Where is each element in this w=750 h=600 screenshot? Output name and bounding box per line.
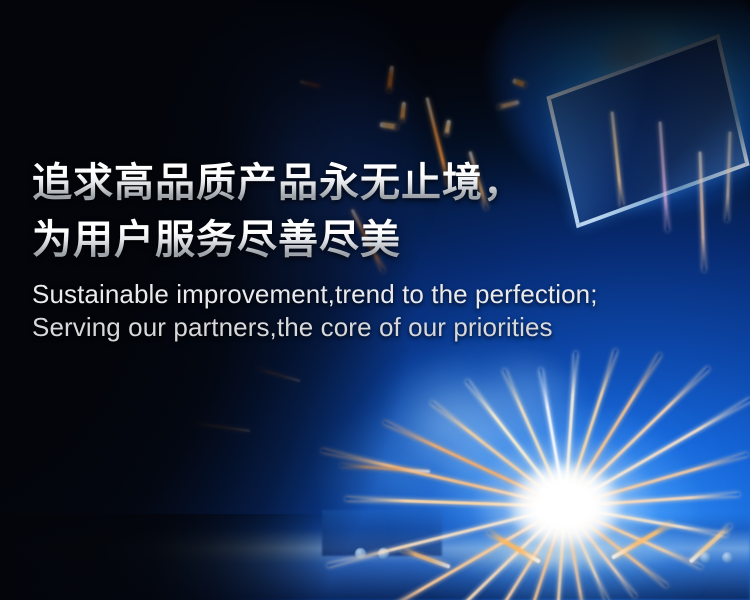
subheadline-line-2: Serving our partners,the core of our pri… <box>32 311 722 344</box>
subheadline-line-1: Sustainable improvement,trend to the per… <box>32 278 722 311</box>
welding-hero-banner: 追求高品质产品永无止境， 为用户服务尽善尽美 Sustainable impro… <box>0 0 750 600</box>
headline-line-1: 追求高品质产品永无止境， <box>32 155 722 212</box>
headline-line-2: 为用户服务尽善尽美 <box>32 212 722 269</box>
banner-copy: 追求高品质产品永无止境， 为用户服务尽善尽美 Sustainable impro… <box>32 155 722 344</box>
subheadline: Sustainable improvement,trend to the per… <box>32 278 722 344</box>
